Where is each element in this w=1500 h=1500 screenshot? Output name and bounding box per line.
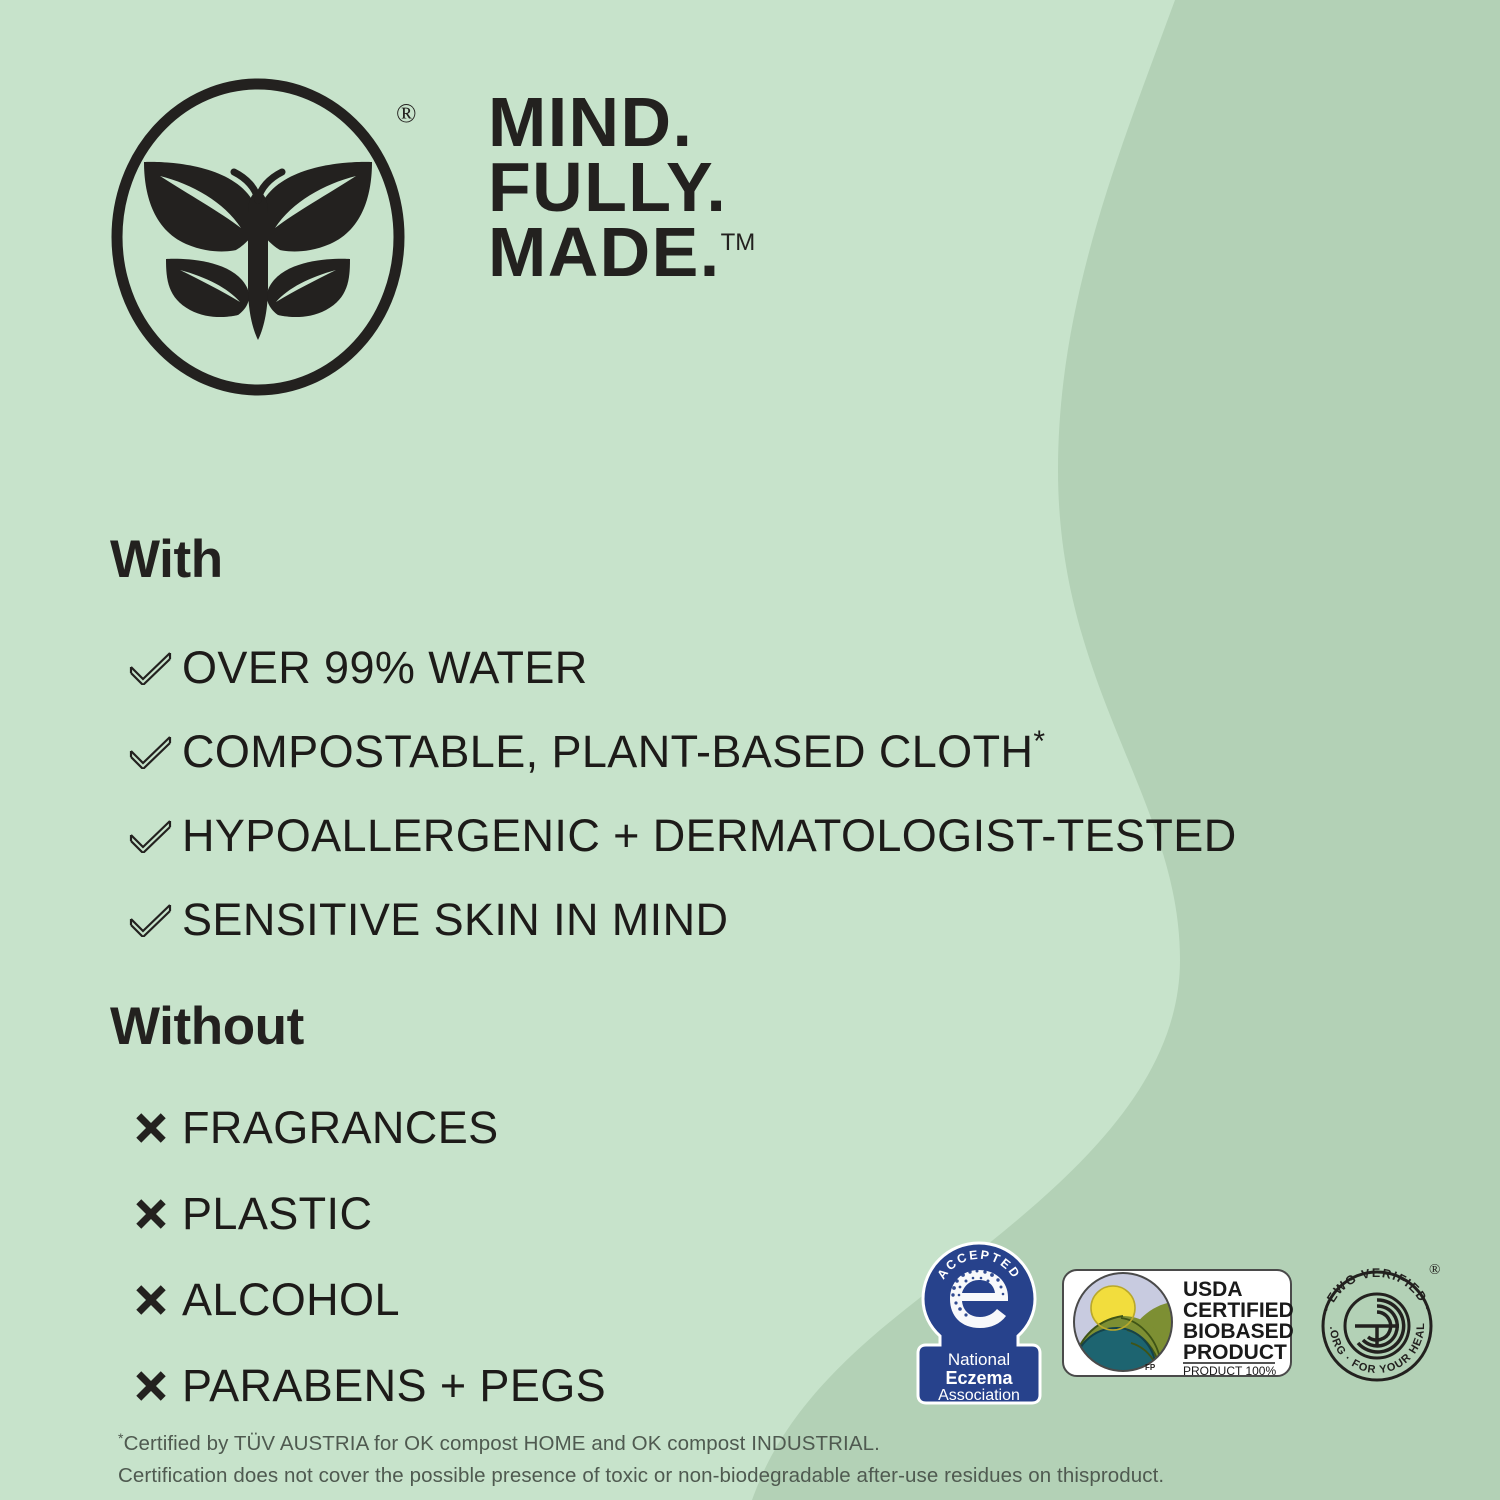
list-item-label: SENSITIVE SKIN IN MIND: [182, 893, 728, 946]
badge-arc-top: · EWG VERIFIED ·: [1319, 1266, 1434, 1314]
check-icon: [120, 895, 182, 943]
list-item-label: HYPOALLERGENIC + DERMATOLOGIST-TESTED: [182, 809, 1237, 862]
badge-line-certified: CERTIFIED: [1183, 1299, 1293, 1322]
list-item: PARABENS + PEGS: [120, 1343, 606, 1429]
cross-icon: [120, 1192, 182, 1236]
product-claims-panel: ® MIND. FULLY. MADE.TM With OVER 99% WAT…: [0, 0, 1500, 1500]
headline-line-2: FULLY.: [488, 155, 755, 220]
page-title: MIND. FULLY. MADE.TM: [488, 90, 755, 285]
certification-badges: ACCEPTED National: [915, 1238, 1425, 1413]
badge-sub-line: PRODUCT 100%: [1183, 1364, 1276, 1378]
badge-line-biobased: BIOBASED: [1183, 1320, 1293, 1343]
footnote-line-1: *Certified by TÜV AUSTRIA for OK compost…: [118, 1428, 1318, 1460]
list-item-label: OVER 99% WATER: [182, 641, 588, 694]
list-item-label: COMPOSTABLE, PLANT-BASED CLOTH*: [182, 725, 1045, 778]
with-section-heading: With: [110, 533, 223, 586]
usda-certified-biobased-product-badge: FP USDA CERTIFIED BIOBASED PRODUCT PRODU…: [1061, 1258, 1293, 1393]
registered-trademark-icon: ®: [1429, 1262, 1440, 1278]
butterfly-in-circle-logo: [108, 72, 424, 402]
check-icon: [120, 643, 182, 691]
without-claims-list: FRAGRANCES PLASTIC ALCOHOL: [120, 1085, 606, 1429]
badge-line-product: PRODUCT: [1183, 1341, 1287, 1364]
national-eczema-association-badge: ACCEPTED National: [915, 1237, 1043, 1414]
brand-logo-block: ® MIND. FULLY. MADE.TM: [108, 72, 868, 422]
check-icon: [120, 811, 182, 859]
headline-line-3-wrap: MADE.TM: [488, 220, 755, 285]
headline-line-3: MADE.: [488, 213, 721, 291]
badge-line-2: Eczema: [945, 1368, 1013, 1388]
list-item: PLASTIC: [120, 1171, 606, 1257]
trademark-icon: TM: [721, 229, 756, 256]
badge-line-3: Association: [938, 1387, 1020, 1404]
list-item-label: PARABENS + PEGS: [182, 1360, 606, 1412]
registered-trademark-icon: ®: [396, 100, 417, 127]
list-item-label: FRAGRANCES: [182, 1102, 499, 1154]
svg-text:· EWG VERIFIED ·: · EWG VERIFIED ·: [1319, 1266, 1434, 1314]
footnote: *Certified by TÜV AUSTRIA for OK compost…: [118, 1428, 1318, 1492]
list-item-label: ALCOHOL: [182, 1274, 400, 1326]
list-item: COMPOSTABLE, PLANT-BASED CLOTH*: [120, 709, 1237, 793]
footnote-line-2: Certification does not cover the possibl…: [118, 1460, 1318, 1492]
without-section-heading: Without: [110, 1000, 304, 1053]
list-item: SENSITIVE SKIN IN MIND: [120, 877, 1237, 961]
badge-line-usda: USDA: [1183, 1278, 1243, 1301]
with-claims-list: OVER 99% WATER COMPOSTABLE, PLANT-BASED …: [120, 625, 1237, 961]
badge-corner-label: FP: [1145, 1363, 1156, 1372]
check-icon: [120, 727, 182, 775]
list-item: FRAGRANCES: [120, 1085, 606, 1171]
list-item: ALCOHOL: [120, 1257, 606, 1343]
list-item: HYPOALLERGENIC + DERMATOLOGIST-TESTED: [120, 793, 1237, 877]
cross-icon: [120, 1364, 182, 1408]
cross-icon: [120, 1278, 182, 1322]
list-item-label: PLASTIC: [182, 1188, 372, 1240]
headline-line-1: MIND.: [488, 90, 755, 155]
badge-line-1: National: [948, 1350, 1010, 1369]
ewg-verified-badge: · EWG VERIFIED · EWG.ORG · FOR YOUR HEAL…: [1311, 1254, 1443, 1397]
list-item: OVER 99% WATER: [120, 625, 1237, 709]
cross-icon: [120, 1106, 182, 1150]
